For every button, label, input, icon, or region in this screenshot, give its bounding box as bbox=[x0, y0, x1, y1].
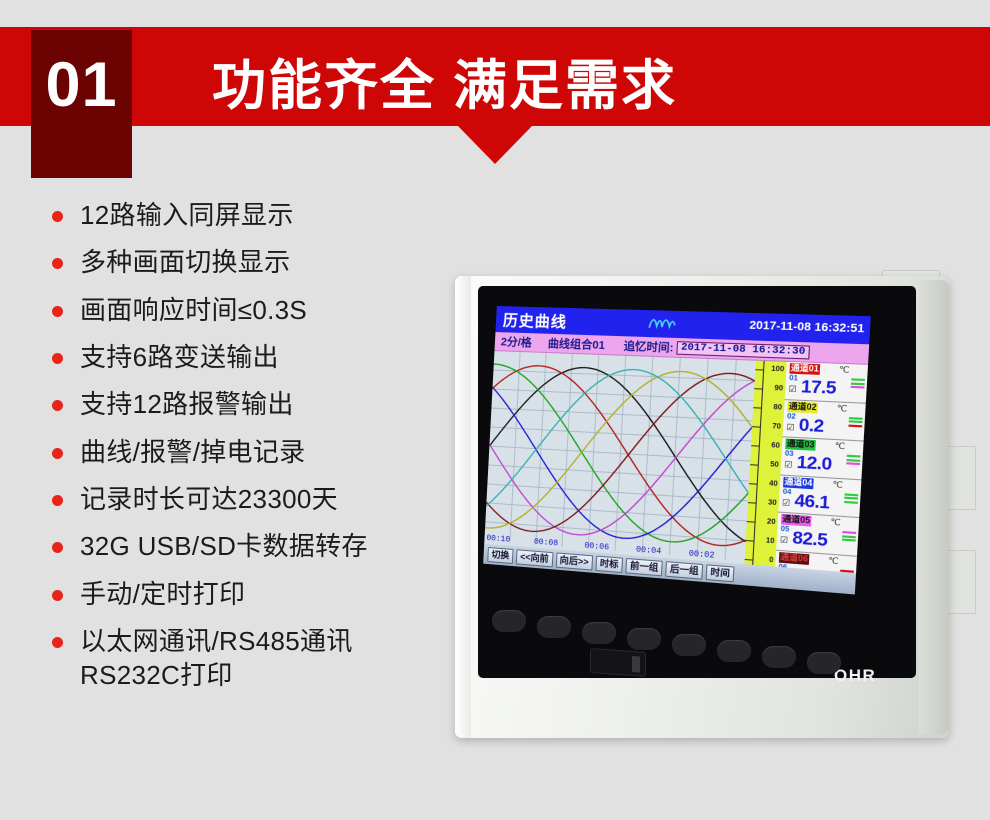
feature-label: 支持12路报警输出 bbox=[80, 387, 294, 421]
channel-unit: ℃ bbox=[830, 517, 841, 527]
device-screen[interactable]: 历史曲线 2017-11-08 16:32:51 2分/格 曲线组合01 追忆时… bbox=[483, 306, 871, 594]
list-item: 手动/定时打印 bbox=[52, 577, 472, 611]
channel-bargraph bbox=[851, 378, 865, 390]
time-tick-label: 00:06 bbox=[584, 541, 609, 552]
device-key[interactable] bbox=[717, 640, 751, 662]
interval-label: 2分/格 bbox=[500, 333, 532, 350]
device-key[interactable] bbox=[582, 622, 616, 644]
scale-tick bbox=[752, 426, 760, 427]
channel-row[interactable]: 通道04 ℃ 04 ☑ 46.1 bbox=[778, 475, 861, 518]
channel-panel: 通道01 ℃ 01 ☑ 17.5 通道02 ℃ 02 ☑ 0.2 bbox=[774, 362, 868, 595]
next-group-button[interactable]: 后一组 bbox=[665, 561, 703, 580]
scale-tick bbox=[754, 388, 762, 389]
scale-tick bbox=[747, 521, 755, 523]
feature-label: 多种画面切换显示 bbox=[80, 245, 290, 279]
feature-label: 12路输入同屏显示 bbox=[80, 198, 294, 232]
channel-index: 01 bbox=[789, 375, 798, 383]
bullet-icon bbox=[52, 542, 63, 553]
time-tick-label: 00:04 bbox=[636, 545, 662, 556]
time-tick-label: 00:08 bbox=[534, 538, 559, 549]
channel-bargraph bbox=[844, 493, 858, 505]
bullet-icon bbox=[52, 590, 63, 601]
feature-label: 画面响应时间≤0.3S bbox=[80, 293, 307, 327]
channel-value: 17.5 bbox=[800, 376, 836, 399]
channel-index: 04 bbox=[783, 488, 792, 496]
channel-unit: ℃ bbox=[839, 365, 850, 375]
device-key[interactable] bbox=[762, 646, 796, 668]
bullet-icon bbox=[52, 353, 63, 364]
scale-label: 100 bbox=[771, 366, 784, 374]
channel-value: 46.1 bbox=[794, 490, 830, 514]
channel-tag: 通道02 bbox=[787, 401, 818, 413]
scale-label: 50 bbox=[770, 461, 779, 469]
channel-bargraph bbox=[846, 455, 860, 467]
channel-checkbox-icon[interactable]: ☑ bbox=[788, 384, 797, 394]
timescale-button[interactable]: 时标 bbox=[595, 555, 623, 573]
switch-button[interactable]: 切换 bbox=[487, 547, 513, 564]
device-photo: OHR 历史曲线 2017-11-08 16:32:51 bbox=[430, 258, 990, 778]
channel-checkbox-icon[interactable]: ☑ bbox=[780, 535, 788, 545]
usb-sd-slot[interactable] bbox=[590, 648, 646, 677]
feature-label: 记录时长可达23300天 bbox=[80, 482, 338, 516]
feature-list: 12路输入同屏显示 多种画面切换显示 画面响应时间≤0.3S 支持6路变送输出 … bbox=[52, 198, 472, 705]
channel-tag: 通道06 bbox=[779, 552, 810, 565]
screen-title: 历史曲线 bbox=[502, 309, 567, 332]
channel-bargraph bbox=[848, 416, 862, 428]
scale-label: 40 bbox=[769, 480, 778, 488]
channel-checkbox-icon[interactable]: ☑ bbox=[784, 460, 793, 470]
channel-row[interactable]: 通道05 ℃ 05 ☑ 82.5 bbox=[776, 513, 859, 557]
scale-label: 60 bbox=[771, 442, 780, 450]
bullet-icon bbox=[52, 448, 63, 459]
device-key[interactable] bbox=[807, 652, 841, 674]
list-item: 支持6路变送输出 bbox=[52, 340, 472, 374]
channel-unit: ℃ bbox=[835, 441, 846, 451]
scale-label: 80 bbox=[773, 404, 782, 412]
bullet-icon bbox=[52, 258, 63, 269]
device-left-edge bbox=[455, 276, 471, 738]
list-item: 32G USB/SD卡数据转存 bbox=[52, 529, 472, 563]
bullet-icon bbox=[52, 637, 63, 648]
device-key[interactable] bbox=[492, 610, 526, 632]
list-item: 支持12路报警输出 bbox=[52, 387, 472, 421]
channel-unit: ℃ bbox=[832, 479, 843, 489]
channel-index: 03 bbox=[785, 450, 794, 458]
recall-time-label: 追忆时间: bbox=[623, 337, 674, 355]
channel-value: 12.0 bbox=[796, 452, 832, 475]
screen-datetime: 2017-11-08 16:32:51 bbox=[749, 319, 865, 335]
channel-tag: 通道04 bbox=[783, 476, 814, 488]
channel-checkbox-icon[interactable]: ☑ bbox=[786, 422, 795, 432]
feature-label: 手动/定时打印 bbox=[80, 577, 245, 611]
scale-tick bbox=[753, 407, 761, 408]
list-item: 多种画面切换显示 bbox=[52, 245, 472, 279]
channel-index: 05 bbox=[780, 526, 789, 534]
channel-bargraph bbox=[842, 531, 856, 543]
feature-label: 以太网通讯/RS485通讯 RS232C打印 bbox=[80, 624, 353, 693]
bullet-icon bbox=[52, 495, 63, 506]
device-key[interactable] bbox=[537, 616, 571, 638]
device-key[interactable] bbox=[627, 628, 661, 650]
channel-value: 82.5 bbox=[792, 527, 828, 551]
list-item: 12路输入同屏显示 bbox=[52, 198, 472, 232]
device-mount-tab-right-upper bbox=[946, 446, 976, 510]
feature-label: 32G USB/SD卡数据转存 bbox=[80, 529, 368, 563]
list-item: 记录时长可达23300天 bbox=[52, 482, 472, 516]
bullet-icon bbox=[52, 306, 63, 317]
scale-tick bbox=[745, 559, 753, 561]
channel-unit: ℃ bbox=[828, 555, 839, 565]
scale-label: 10 bbox=[766, 537, 775, 545]
channel-tag: 通道05 bbox=[781, 514, 812, 527]
scale-label: 70 bbox=[772, 423, 781, 431]
feature-label: 支持6路变送输出 bbox=[80, 340, 279, 374]
channel-row[interactable]: 通道02 ℃ 02 ☑ 0.2 bbox=[783, 400, 866, 442]
bullet-icon bbox=[52, 400, 63, 411]
channel-tag: 通道01 bbox=[789, 363, 820, 375]
prev-group-button[interactable]: 前一组 bbox=[625, 557, 662, 575]
scale-tick bbox=[746, 540, 754, 542]
scale-label: 30 bbox=[768, 499, 777, 507]
page-title: 功能齐全 满足需求 bbox=[212, 41, 677, 120]
scale-label: 0 bbox=[769, 557, 774, 565]
page-root: 01 功能齐全 满足需求 12路输入同屏显示 多种画面切换显示 画面响应时间≤0… bbox=[0, 0, 990, 820]
device-mount-tab-right-lower bbox=[946, 550, 976, 614]
scale-tick bbox=[750, 464, 758, 466]
channel-value: 0.2 bbox=[798, 414, 824, 437]
recall-time-value[interactable]: 2017-11-08 16:32:30 bbox=[676, 341, 810, 359]
waveform-icon bbox=[648, 315, 677, 337]
time-button[interactable]: 时间 bbox=[706, 564, 735, 582]
section-number: 01 bbox=[31, 30, 132, 140]
list-item: 画面响应时间≤0.3S bbox=[52, 293, 472, 327]
list-item: 曲线/报警/掉电记录 bbox=[52, 435, 472, 469]
forward-button[interactable]: 向后>> bbox=[555, 552, 593, 570]
channel-row[interactable]: 通道01 ℃ 01 ☑ 17.5 bbox=[785, 362, 868, 403]
time-tick-label: 00:02 bbox=[688, 549, 714, 560]
brand-logo: OHR bbox=[834, 666, 876, 686]
scale-tick bbox=[751, 445, 759, 446]
back-button[interactable]: <<向前 bbox=[516, 549, 553, 567]
channel-checkbox-icon[interactable]: ☑ bbox=[782, 497, 790, 507]
time-tick-label: 00:10 bbox=[486, 534, 510, 545]
scale-label: 20 bbox=[767, 518, 776, 526]
scale-label: 90 bbox=[774, 385, 783, 393]
device-key[interactable] bbox=[672, 634, 706, 656]
scale-tick bbox=[749, 483, 757, 485]
channel-row[interactable]: 通道03 ℃ 03 ☑ 12.0 bbox=[780, 437, 863, 480]
device-right-edge bbox=[919, 280, 949, 734]
channel-tag: 通道03 bbox=[785, 439, 816, 451]
feature-label: 曲线/报警/掉电记录 bbox=[80, 435, 305, 469]
channel-index: 02 bbox=[787, 413, 796, 421]
banner-arrow bbox=[458, 126, 532, 164]
scale-axis-line bbox=[751, 361, 765, 586]
channel-unit: ℃ bbox=[837, 403, 848, 413]
list-item: 以太网通讯/RS485通讯 RS232C打印 bbox=[52, 624, 472, 693]
scale-tick bbox=[748, 502, 756, 504]
curve-group-label[interactable]: 曲线组合01 bbox=[547, 335, 605, 353]
bullet-icon bbox=[52, 211, 63, 222]
scale-tick bbox=[755, 369, 763, 370]
